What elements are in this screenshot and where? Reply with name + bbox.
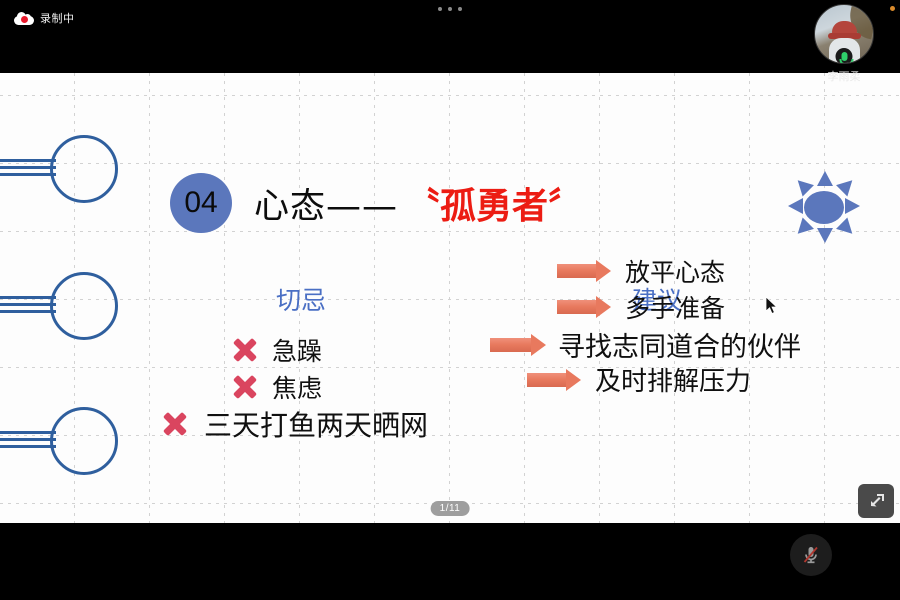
sun-icon xyxy=(788,171,860,243)
meeting-bottom-bar xyxy=(0,523,900,600)
x-mark-icon xyxy=(160,409,190,439)
recording-label: 录制中 xyxy=(40,10,75,26)
page-title: 心态—— xyxy=(254,178,398,229)
section-number-badge: 04 xyxy=(170,173,232,233)
arrow-right-icon xyxy=(490,334,546,356)
list-item-label: 焦虑 xyxy=(272,369,322,405)
list-item-label: 放平心态 xyxy=(625,253,725,289)
slide-canvas[interactable]: 04 心态—— 〝孤勇者〞 切忌 急躁 焦虑 三天打鱼两天晒网 建议 放平心态 … xyxy=(0,73,900,523)
more-dots-handle[interactable] xyxy=(438,7,462,11)
list-item: 焦虑 xyxy=(232,369,322,405)
meeting-top-bar: 录制中 李雨柔 xyxy=(0,0,900,73)
participant-name: 李雨柔 xyxy=(812,68,876,84)
list-item: 急躁 xyxy=(232,332,322,368)
list-item-label: 及时排解压力 xyxy=(595,361,751,398)
list-item: 三天打鱼两天晒网 xyxy=(160,404,428,444)
exit-fullscreen-icon[interactable] xyxy=(858,484,894,518)
mic-on-badge-icon xyxy=(836,48,853,64)
list-item-label: 寻找志同道合的伙伴 xyxy=(558,325,801,364)
cloud-record-icon xyxy=(14,12,34,25)
x-mark-icon xyxy=(232,374,258,400)
recording-indicator: 录制中 xyxy=(14,10,75,26)
list-item: 放平心态 xyxy=(557,253,725,289)
left-column-heading: 切忌 xyxy=(276,281,326,317)
list-item-label: 多手准备 xyxy=(625,289,725,325)
list-item-label: 三天打鱼两天晒网 xyxy=(204,404,428,444)
list-item: 多手准备 xyxy=(557,289,725,325)
arrow-right-icon xyxy=(527,369,581,391)
avatar xyxy=(814,4,874,64)
page-indicator: 1/11 xyxy=(431,501,470,516)
list-item: 及时排解压力 xyxy=(527,361,751,398)
participant-tile[interactable]: 李雨柔 xyxy=(812,4,876,84)
list-item: 寻找志同道合的伙伴 xyxy=(490,325,801,364)
arrow-right-icon xyxy=(557,260,611,282)
arrow-right-icon xyxy=(557,296,611,318)
mouse-cursor xyxy=(766,297,779,315)
mic-muted-icon[interactable] xyxy=(790,534,832,576)
slide-title: 04 心态—— 〝孤勇者〞 xyxy=(170,173,584,233)
x-mark-icon xyxy=(232,337,258,363)
list-item-label: 急躁 xyxy=(272,332,322,368)
status-dot-icon xyxy=(890,6,895,11)
page-title-emphasis: 〝孤勇者〞 xyxy=(404,177,584,229)
